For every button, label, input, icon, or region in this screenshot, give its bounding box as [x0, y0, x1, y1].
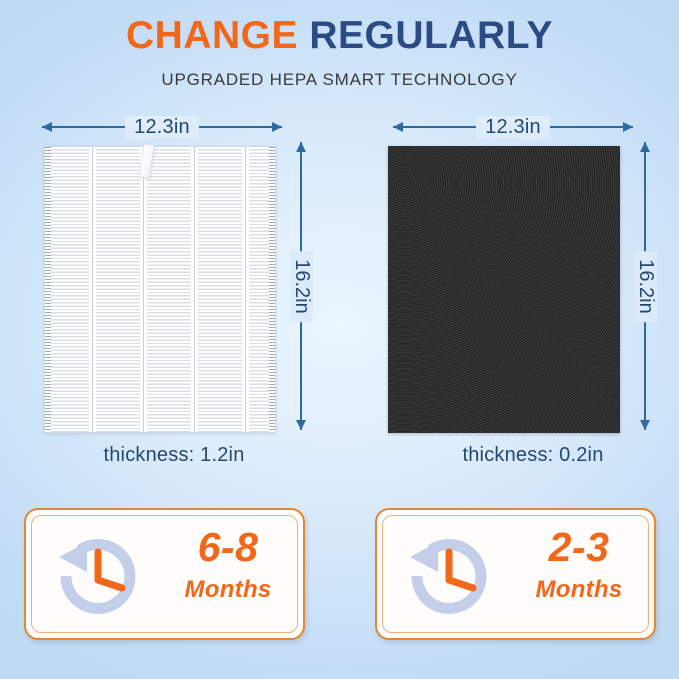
thickness-label-carbon: thickness: 0.2in — [393, 444, 673, 467]
page-title: CHANGE REGULARLY — [0, 14, 679, 58]
arrow-head-left-icon — [42, 122, 52, 132]
product-panel-hepa-filter: 12.3in 16.2in thickness: 1.2in — [34, 112, 314, 142]
badge-duration-number: 6-8 — [198, 524, 259, 570]
arrow-head-left-icon — [393, 122, 403, 132]
arrow-head-down-icon — [296, 420, 306, 430]
badge-duration-unit: Months — [162, 576, 294, 604]
arrow-head-up-icon — [640, 142, 650, 152]
badge-duration-unit: Months — [513, 576, 645, 604]
clock-refresh-icon — [46, 524, 150, 628]
height-label-carbon: 16.2in — [634, 251, 657, 322]
title-word-change: CHANGE — [126, 14, 298, 57]
filter-support-ribs — [45, 147, 275, 432]
replacement-badge-hepa: 6-8 Months — [24, 508, 305, 640]
hepa-filter-image — [44, 146, 276, 433]
title-word-regularly: REGULARLY — [309, 14, 553, 57]
arrow-head-right-icon — [272, 122, 282, 132]
hepa-filter-image-wrap — [44, 146, 276, 433]
height-dimension-carbon: 16.2in — [630, 142, 660, 430]
carbon-filter-image — [388, 146, 620, 433]
badge-text-block: 2-3 Months — [513, 526, 645, 604]
product-panel-carbon-filter: 12.3in 16.2in thickness: 0.2in — [385, 112, 665, 142]
height-label-hepa: 16.2in — [290, 251, 313, 322]
arrow-head-down-icon — [640, 420, 650, 430]
infographic-page: CHANGE REGULARLY UPGRADED HEPA SMART TEC… — [0, 0, 679, 679]
width-label-hepa: 12.3in — [125, 116, 199, 139]
page-subtitle: UPGRADED HEPA SMART TECHNOLOGY — [0, 70, 679, 90]
badge-text-block: 6-8 Months — [162, 526, 294, 604]
thickness-label-hepa: thickness: 1.2in — [34, 444, 314, 467]
width-label-carbon: 12.3in — [476, 116, 550, 139]
header: CHANGE REGULARLY UPGRADED HEPA SMART TEC… — [0, 14, 679, 90]
replacement-badge-carbon: 2-3 Months — [375, 508, 656, 640]
clock-refresh-icon — [397, 524, 501, 628]
filter-edge-left — [45, 147, 51, 432]
badge-duration-number: 2-3 — [549, 524, 610, 570]
carbon-filter-image-wrap — [388, 146, 620, 433]
arrow-head-right-icon — [623, 122, 633, 132]
filter-edge-right — [269, 147, 275, 432]
width-dimension-hepa: 12.3in — [42, 112, 282, 142]
height-dimension-hepa: 16.2in — [286, 142, 316, 430]
arrow-head-up-icon — [296, 142, 306, 152]
width-dimension-carbon: 12.3in — [393, 112, 633, 142]
